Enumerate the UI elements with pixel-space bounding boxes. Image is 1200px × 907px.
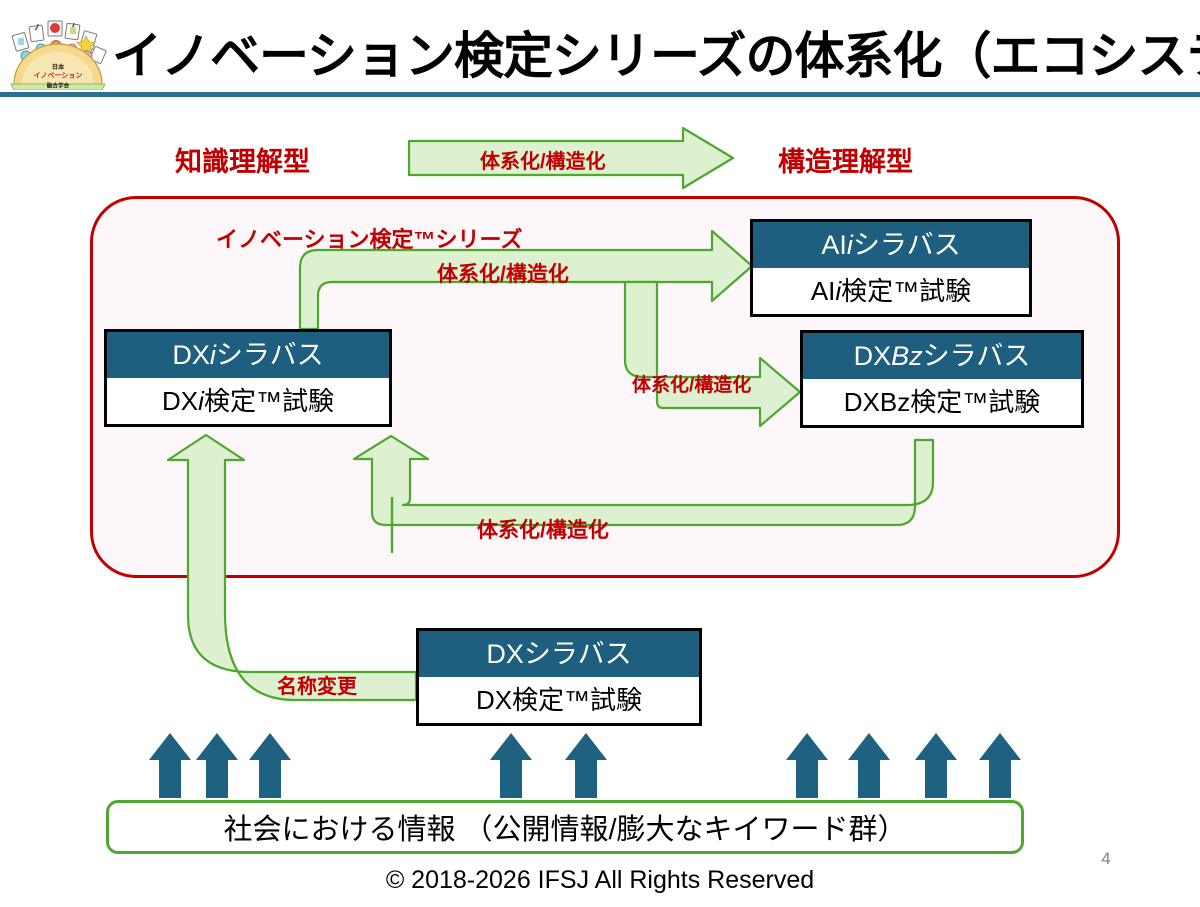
label-knowledge-type: 知識理解型 xyxy=(175,140,310,179)
copyright-text: © 2018-2026 IFSJ All Rights Reserved xyxy=(0,866,1200,895)
card-dxi-body: DXi 検定™試験 xyxy=(107,378,389,424)
society-arrow xyxy=(490,733,532,798)
society-arrow xyxy=(249,733,291,798)
card-aii-header: AIiシラバス xyxy=(753,222,1029,268)
page-number: 4 xyxy=(1086,849,1126,869)
page-title: イノベーション検定シリーズの体系化（エコシステム） xyxy=(112,24,1172,88)
card-dx[interactable]: DXシラバス DX検定™試験 xyxy=(416,628,702,726)
society-arrow xyxy=(979,733,1021,798)
society-arrow xyxy=(848,733,890,798)
svg-text:日本: 日本 xyxy=(52,63,65,71)
card-dx-body: DX検定™試験 xyxy=(419,677,699,723)
card-dxbz-header: DXBzシラバス xyxy=(803,333,1081,379)
flow-label-rename: 名称変更 xyxy=(277,670,357,699)
society-arrow xyxy=(915,733,957,798)
flow-label-top: 体系化/構造化 xyxy=(480,145,606,174)
card-dxi-header: DXiシラバス xyxy=(107,332,389,378)
card-dxbz-body: DXBz検定™試験 xyxy=(803,379,1081,425)
svg-text:イノベーション: イノベーション xyxy=(34,72,83,80)
ifsj-logo-icon: 日本 イノベーション 融合学会 xyxy=(8,16,112,90)
header-divider xyxy=(0,92,1200,97)
society-arrow xyxy=(149,733,191,798)
society-arrow xyxy=(196,733,238,798)
flow-label-dxi-aii: 体系化/構造化 xyxy=(437,258,569,288)
society-arrow xyxy=(565,733,607,798)
label-structure-type: 構造理解型 xyxy=(778,140,913,179)
card-aii-body: AIi 検定™試験 xyxy=(753,268,1029,314)
card-dx-header: DXシラバス xyxy=(419,631,699,677)
card-dxbz[interactable]: DXBzシラバス DXBz検定™試験 xyxy=(800,330,1084,428)
svg-text:融合学会: 融合学会 xyxy=(47,82,70,90)
society-info-bar: 社会における情報 （公開情報/膨大なキイワード群） xyxy=(106,800,1024,854)
ecosystem-label: イノベーション検定™シリーズ xyxy=(216,222,522,254)
flow-label-dxbz-dxi: 体系化/構造化 xyxy=(477,514,609,544)
card-dxi[interactable]: DXiシラバス DXi 検定™試験 xyxy=(104,329,392,427)
society-arrow xyxy=(786,733,828,798)
slide-canvas: 日本 イノベーション 融合学会 イノベーション検定シリーズの体系化（エコシステム… xyxy=(0,0,1200,907)
society-arrows xyxy=(149,733,1021,798)
card-aii[interactable]: AIiシラバス AIi 検定™試験 xyxy=(750,219,1032,317)
flow-label-aii-dxbz: 体系化/構造化 xyxy=(632,370,751,397)
